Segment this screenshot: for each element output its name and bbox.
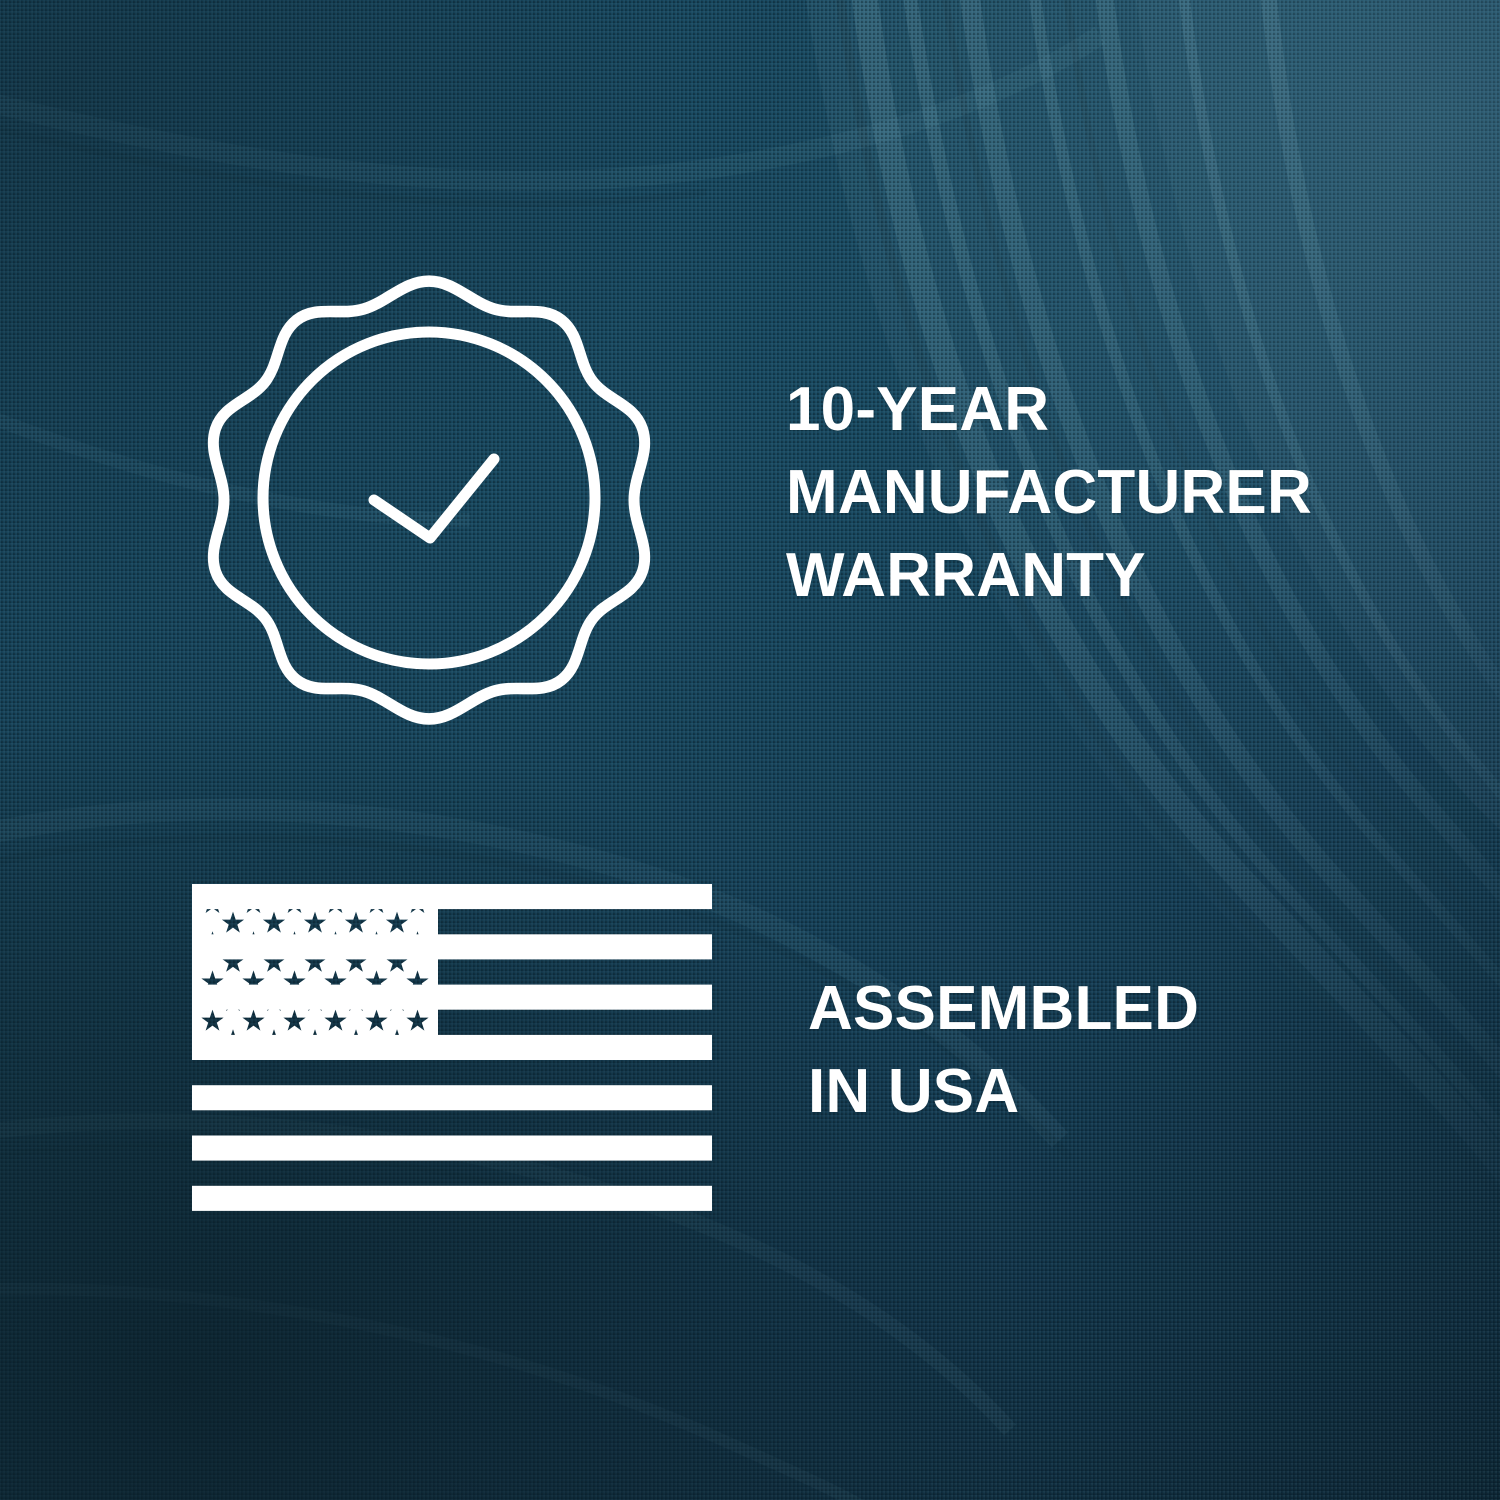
feature-list: 10-YEAR MANUFACTURER WARRANTY [0,0,1500,1500]
assembled-headline: ASSEMBLED IN USA [808,967,1428,1133]
promo-graphic-canvas: 10-YEAR MANUFACTURER WARRANTY [0,0,1500,1500]
usa-flag-icon [192,884,712,1211]
warranty-seal-check-icon [185,257,673,739]
warranty-headline: 10-YEAR MANUFACTURER WARRANTY [786,368,1436,617]
